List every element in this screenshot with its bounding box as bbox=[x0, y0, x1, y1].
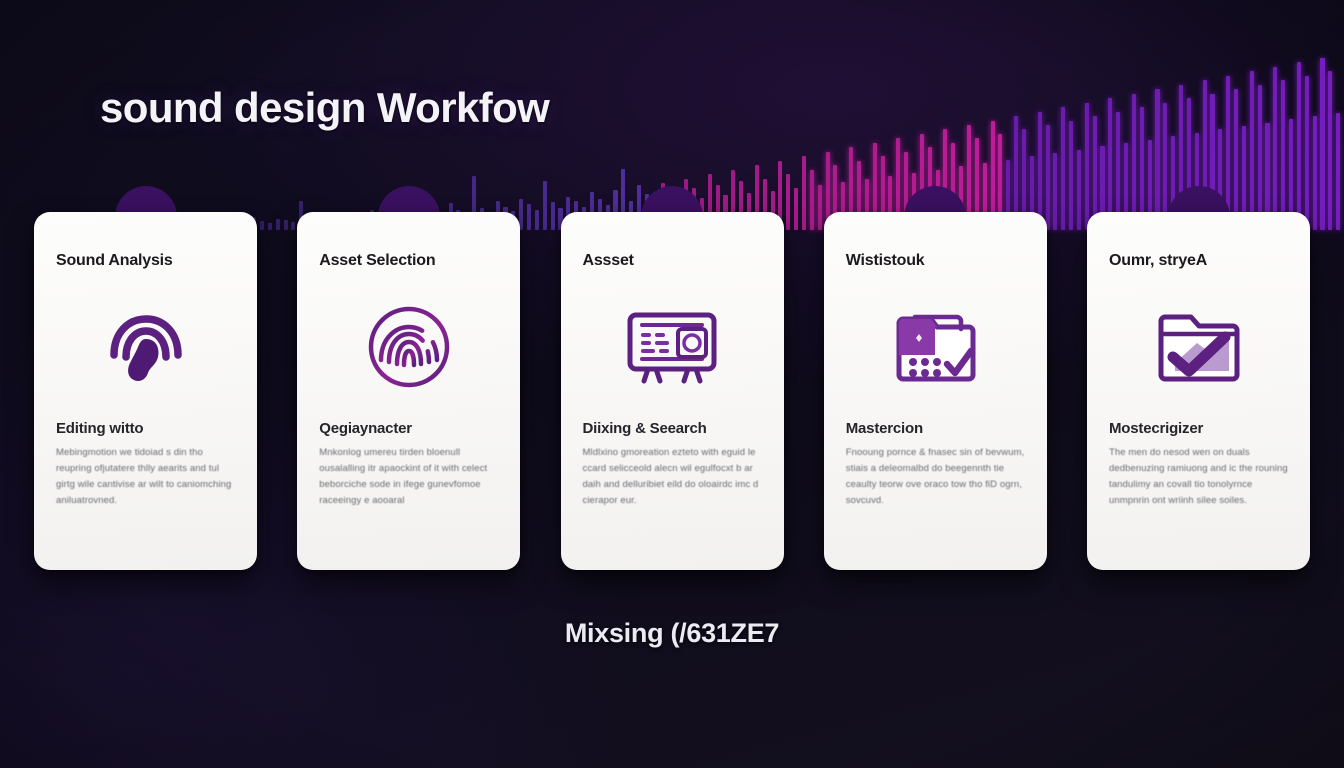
card-body-text: Mldlxino gmoreation ezteto with eguid le… bbox=[583, 445, 762, 509]
waveform-bar bbox=[1328, 71, 1332, 230]
audio-waveform-graphic bbox=[150, 40, 1344, 230]
card-subtitle: Qegiaynacter bbox=[319, 420, 498, 437]
workflow-card[interactable]: Assset Diixing & Se bbox=[561, 212, 784, 570]
workflow-card-row: Sound Analysis Editing witto Mebingmotio… bbox=[34, 212, 1310, 570]
card-body-text: The men do nesod wen on duals dedbenuzin… bbox=[1109, 445, 1288, 509]
waveform-bar bbox=[1297, 62, 1301, 230]
card-title: Assset bbox=[583, 252, 762, 270]
card-subtitle: Diixing & Seearch bbox=[583, 420, 762, 437]
ear-listening-icon bbox=[56, 292, 235, 402]
waveform-bar bbox=[1250, 71, 1254, 230]
card-badge-circle bbox=[641, 186, 703, 248]
poster-canvas: sound design Workfow Sound Analysis Edit… bbox=[0, 0, 1344, 768]
waveform-bar bbox=[1132, 94, 1136, 230]
card-body-text: Mebingmotion we tidoiad s din tho reupri… bbox=[56, 445, 235, 509]
waveform-bar bbox=[1085, 103, 1089, 230]
waveform-bar bbox=[1234, 89, 1238, 230]
waveform-bar bbox=[1155, 89, 1159, 230]
waveform-bar bbox=[1163, 103, 1167, 230]
waveform-bar bbox=[1273, 67, 1277, 230]
card-subtitle: Mostecrigizer bbox=[1109, 420, 1288, 437]
card-title: Asset Selection bbox=[319, 252, 498, 270]
card-badge-circle bbox=[378, 186, 440, 248]
waveform-bar bbox=[1336, 113, 1340, 230]
card-badge-circle bbox=[115, 186, 177, 248]
waveform-bar bbox=[1305, 76, 1309, 230]
card-body-text: Mnkonlog umereu tirden bloenull ousalall… bbox=[319, 445, 498, 509]
fingerprint-circle-icon bbox=[319, 292, 498, 402]
waveform-bar bbox=[1258, 85, 1262, 230]
folder-dots-check-icon bbox=[846, 292, 1025, 402]
card-title: Wististouk bbox=[846, 252, 1025, 270]
workflow-card[interactable]: Wististouk Mastercion Fn bbox=[824, 212, 1047, 570]
card-title: Sound Analysis bbox=[56, 252, 235, 270]
card-subtitle: Editing witto bbox=[56, 420, 235, 437]
folder-check-icon bbox=[1109, 292, 1288, 402]
card-subtitle: Mastercion bbox=[846, 420, 1025, 437]
waveform-bar bbox=[1108, 98, 1112, 230]
footer-caption: Mixsing (/631ZE7 bbox=[0, 618, 1344, 649]
card-body-text: Fnooung pornce & fnasec sin of bevwum, s… bbox=[846, 445, 1025, 509]
waveform-bar bbox=[1320, 58, 1324, 230]
mixer-console-icon bbox=[583, 292, 762, 402]
workflow-card[interactable]: Asset Selection bbox=[297, 212, 520, 570]
card-title: Oumr, stryeA bbox=[1109, 252, 1288, 270]
card-badge-circle bbox=[904, 186, 966, 248]
workflow-card[interactable]: Oumr, stryeA Mostecrigizer The men do ne… bbox=[1087, 212, 1310, 570]
workflow-card[interactable]: Sound Analysis Editing witto Mebingmotio… bbox=[34, 212, 257, 570]
page-title: sound design Workfow bbox=[100, 84, 549, 132]
waveform-bar bbox=[1281, 80, 1285, 230]
card-badge-circle bbox=[1168, 186, 1230, 248]
waveform-bar bbox=[1313, 116, 1317, 230]
